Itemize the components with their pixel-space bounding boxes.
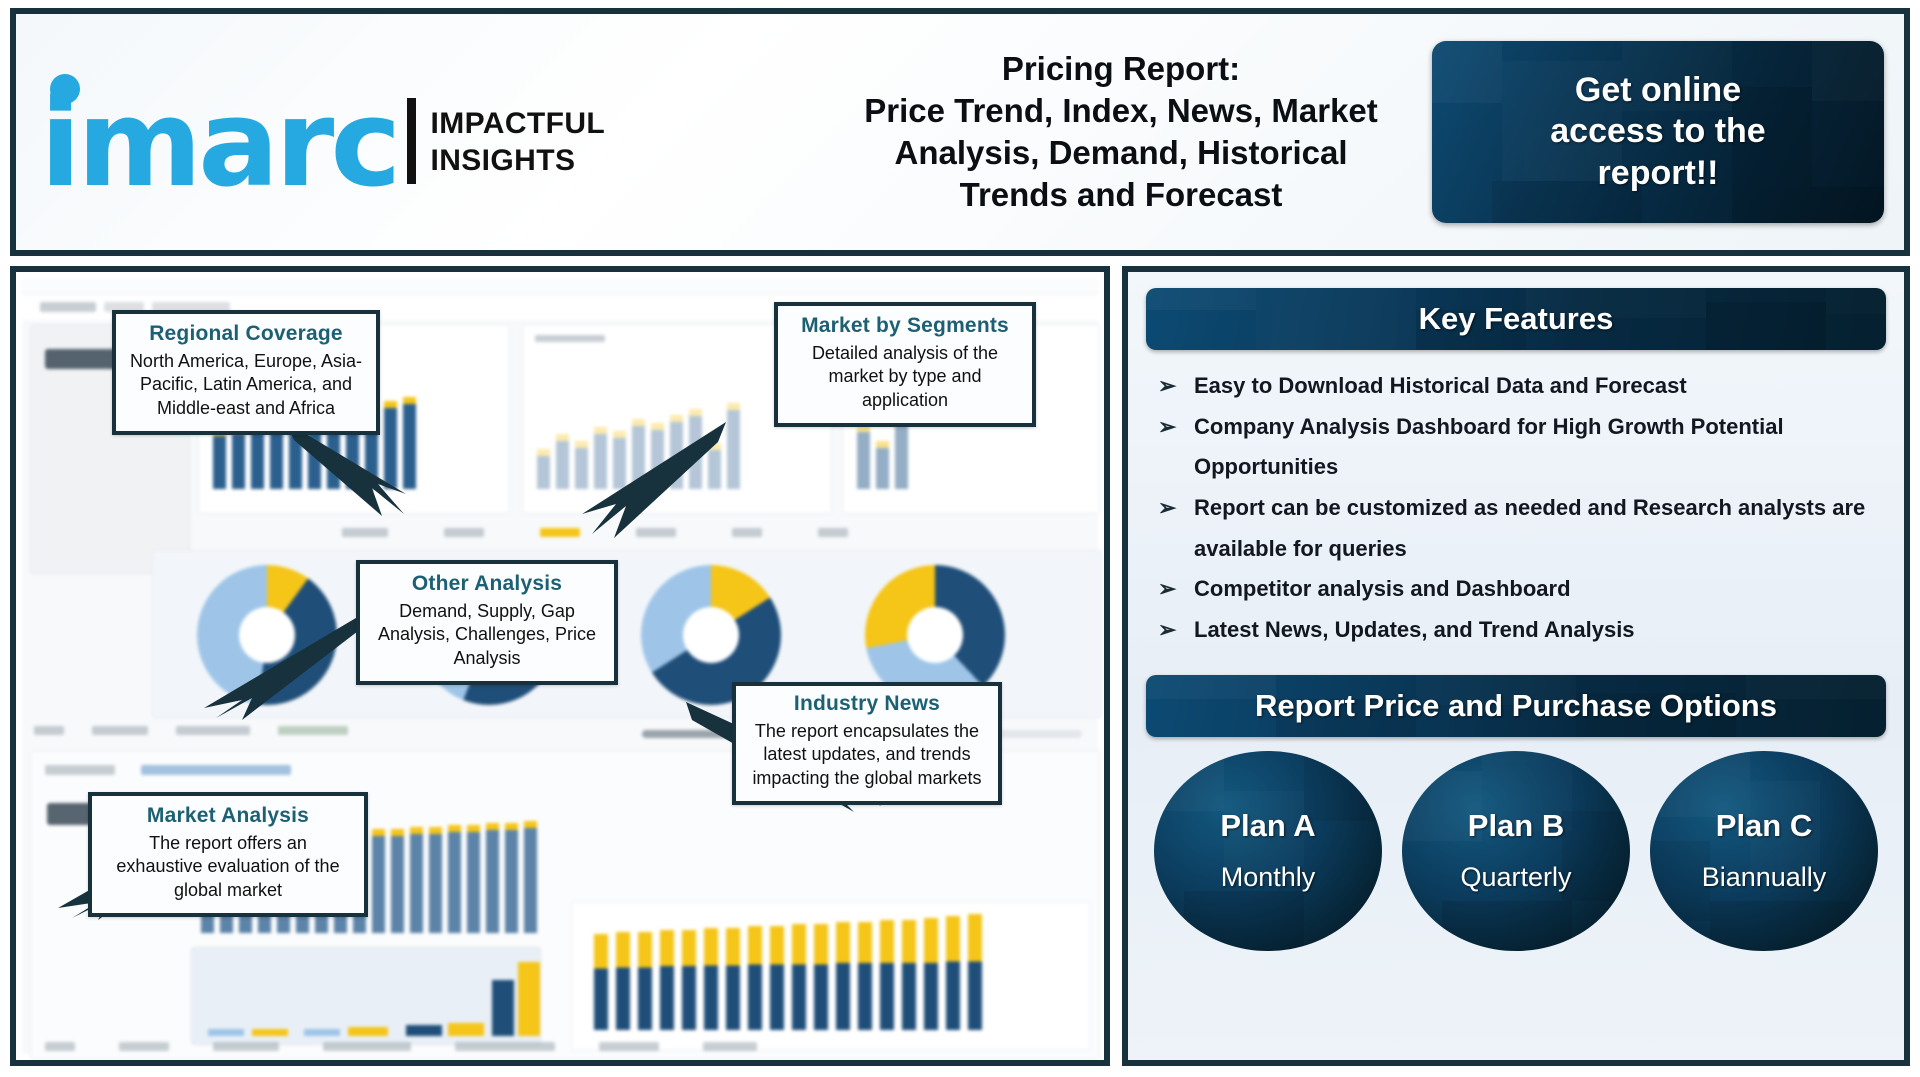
- page-title: Pricing Report: Price Trend, Index, News…: [810, 48, 1432, 216]
- key-features-title: Key Features: [1419, 301, 1614, 337]
- pricing-title: Report Price and Purchase Options: [1255, 688, 1777, 724]
- dashboard-compare-card: [191, 947, 541, 1045]
- content-area: Regional Coverage North America, Europe,…: [10, 266, 1910, 1066]
- key-feature-item: ➢ Latest News, Updates, and Trend Analys…: [1158, 610, 1878, 651]
- plan-tile-texture: [1402, 751, 1630, 951]
- plan-c-name: Plan C: [1716, 808, 1812, 844]
- key-feature-text: Latest News, Updates, and Trend Analysis: [1194, 610, 1635, 651]
- cta-line1: Get online: [1550, 70, 1765, 111]
- callout-industry-news-title: Industry News: [748, 692, 986, 716]
- plan-tile-texture: [1154, 751, 1382, 951]
- key-feature-item: ➢ Easy to Download Historical Data and F…: [1158, 366, 1878, 407]
- callout-other-analysis: Other Analysis Demand, Supply, Gap Analy…: [356, 560, 618, 685]
- info-panel: Key Features ➢ Easy to Download Historic…: [1122, 266, 1910, 1066]
- key-feature-text: Easy to Download Historical Data and For…: [1194, 366, 1687, 407]
- page-title-line2: Price Trend, Index, News, Market: [816, 90, 1426, 132]
- callout-market-by-segments: Market by Segments Detailed analysis of …: [774, 302, 1036, 427]
- arrow-bullet-icon: ➢: [1158, 610, 1180, 651]
- donut-hole-3: [683, 607, 739, 663]
- imarc-logo: imarc IMPACTFUL INSIGHTS: [40, 20, 810, 244]
- dashboard-topbar: [22, 278, 1098, 294]
- poster-root: imarc IMPACTFUL INSIGHTS Pricing Report:…: [0, 0, 1920, 1077]
- arrow-bullet-icon: ➢: [1158, 407, 1180, 448]
- dashboard-preview-panel: Regional Coverage North America, Europe,…: [10, 266, 1110, 1066]
- callout-other-analysis-title: Other Analysis: [372, 572, 602, 596]
- pricing-header: Report Price and Purchase Options: [1146, 675, 1886, 737]
- cta-line2: access to the: [1550, 111, 1765, 152]
- callout-market-analysis-title: Market Analysis: [104, 804, 352, 828]
- key-features-list: ➢ Easy to Download Historical Data and F…: [1158, 366, 1878, 651]
- plan-tile-texture: [1650, 751, 1878, 951]
- callout-tail-segments: [546, 422, 726, 542]
- callout-market-by-segments-body: Detailed analysis of the market by type …: [790, 342, 1020, 412]
- page-title-line4: Trends and Forecast: [816, 174, 1426, 216]
- plan-a-name: Plan A: [1220, 808, 1315, 844]
- callout-regional-coverage-title: Regional Coverage: [128, 322, 364, 346]
- plan-c-button[interactable]: Plan C Biannually: [1650, 751, 1878, 951]
- callout-regional-coverage-body: North America, Europe, Asia-Pacific, Lat…: [128, 350, 364, 420]
- callout-industry-news-body: The report encapsulates the latest updat…: [748, 720, 986, 790]
- logo-mark: imarc: [40, 62, 397, 202]
- arrow-bullet-icon: ➢: [1158, 366, 1180, 407]
- key-feature-text: Competitor analysis and Dashboard: [1194, 569, 1571, 610]
- callout-market-analysis: Market Analysis The report offers an exh…: [88, 792, 368, 917]
- dashboard-stacked-card: [571, 901, 1091, 1051]
- logo-tagline: IMPACTFUL INSIGHTS: [430, 84, 605, 179]
- plan-b-name: Plan B: [1468, 808, 1564, 844]
- dashboard-tab-strip[interactable]: [34, 726, 348, 735]
- get-online-access-button[interactable]: Get online access to the report!!: [1432, 41, 1884, 223]
- cta-label: Get online access to the report!!: [1550, 70, 1765, 194]
- logo-tagline-line1: IMPACTFUL: [430, 106, 605, 143]
- callout-market-analysis-body: The report offers an exhaustive evaluati…: [104, 832, 352, 902]
- key-feature-text: Company Analysis Dashboard for High Grow…: [1194, 407, 1878, 488]
- key-feature-text: Report can be customized as needed and R…: [1194, 488, 1878, 569]
- plan-a-period: Monthly: [1221, 862, 1316, 893]
- callout-market-by-segments-title: Market by Segments: [790, 314, 1020, 338]
- page-title-line3: Analysis, Demand, Historical: [816, 132, 1426, 174]
- page-title-line1: Pricing Report:: [816, 48, 1426, 90]
- callout-industry-news: Industry News The report encapsulates th…: [732, 682, 1002, 805]
- dashboard-stacked-bars: [594, 914, 982, 1030]
- dashboard-bottom-tabs[interactable]: [45, 1042, 757, 1051]
- header: imarc IMPACTFUL INSIGHTS Pricing Report:…: [10, 8, 1910, 256]
- callout-tail-other-analysis: [186, 612, 366, 722]
- key-feature-item: ➢ Competitor analysis and Dashboard: [1158, 569, 1878, 610]
- plan-a-button[interactable]: Plan A Monthly: [1154, 751, 1382, 951]
- cta-line3: report!!: [1550, 153, 1765, 194]
- key-feature-item: ➢ Company Analysis Dashboard for High Gr…: [1158, 407, 1878, 488]
- donut-hole-4: [907, 607, 963, 663]
- plan-b-button[interactable]: Plan B Quarterly: [1402, 751, 1630, 951]
- plan-c-period: Biannually: [1702, 862, 1827, 893]
- arrow-bullet-icon: ➢: [1158, 488, 1180, 529]
- callout-regional-coverage: Regional Coverage North America, Europe,…: [112, 310, 380, 435]
- plan-b-period: Quarterly: [1460, 862, 1571, 893]
- key-features-header: Key Features: [1146, 288, 1886, 350]
- key-feature-item: ➢ Report can be customized as needed and…: [1158, 488, 1878, 569]
- logo-tagline-line2: INSIGHTS: [430, 143, 605, 180]
- arrow-bullet-icon: ➢: [1158, 569, 1180, 610]
- logo-wordmark: imarc: [40, 62, 397, 202]
- callout-tail-regional: [286, 422, 446, 532]
- callout-other-analysis-body: Demand, Supply, Gap Analysis, Challenges…: [372, 600, 602, 670]
- pricing-plans: Plan A Monthly Plan B Quarterly: [1128, 751, 1904, 951]
- logo-divider: [407, 98, 416, 184]
